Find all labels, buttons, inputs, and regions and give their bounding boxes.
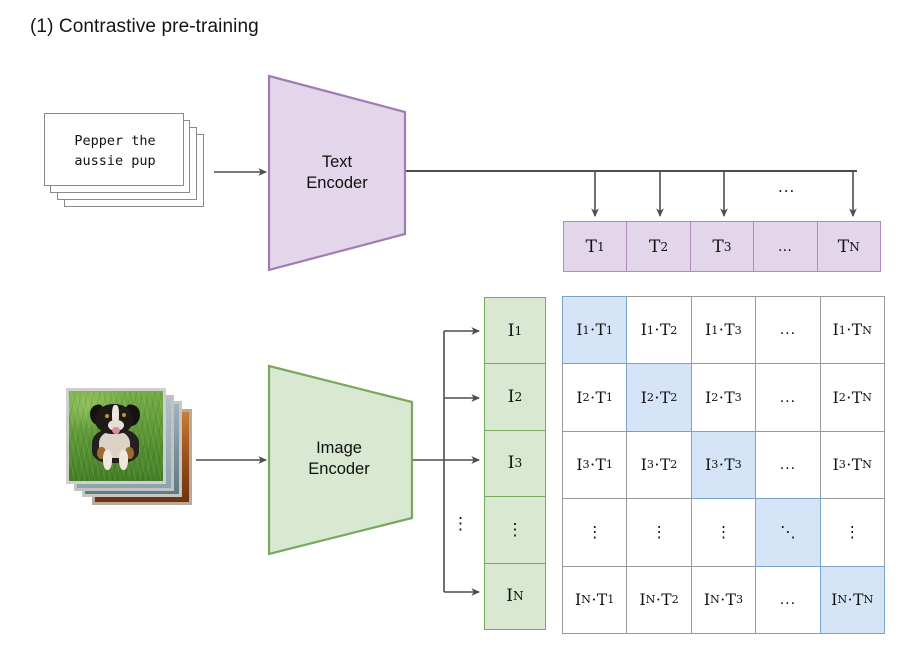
caption-line-2: aussie pup: [74, 151, 155, 171]
image-embedding-cell-3: I3: [484, 430, 546, 497]
text-caption-card-front: Pepper the aussie pup: [44, 113, 184, 186]
i-trunk-ellipsis: ⋮: [452, 516, 469, 533]
text-caption-content: Pepper the aussie pup: [45, 114, 185, 187]
photo-front-puppy: [66, 388, 166, 484]
similarity-cell-r3-c4: ...: [755, 431, 820, 499]
similarity-cell-r1-c2: I1·T2: [626, 296, 691, 364]
image-embedding-cell-1: I1: [484, 297, 546, 364]
image-embedding-cell-5: IN: [484, 563, 546, 630]
similarity-cell-r4-c2: ⋮: [626, 498, 691, 566]
similarity-cell-r1-c3: I1·T3: [691, 296, 756, 364]
similarity-cell-r4-c1: ⋮: [562, 498, 627, 566]
puppy-photo-image: [69, 391, 163, 481]
similarity-cell-r5-c2: IN·T2: [626, 566, 691, 634]
similarity-cell-r4-c3: ⋮: [691, 498, 756, 566]
similarity-cell-r2-c1: I2·T1: [562, 363, 627, 431]
similarity-cell-r3-c3: I3·T3: [691, 431, 756, 499]
similarity-cell-r3-c2: I3·T2: [626, 431, 691, 499]
text-encoder-shape: [266, 72, 408, 274]
similarity-cell-r2-c3: I2·T3: [691, 363, 756, 431]
similarity-cell-r5-c3: IN·T3: [691, 566, 756, 634]
image-encoder-shape: [266, 362, 416, 558]
image-encoder-block: Image Encoder: [266, 362, 416, 558]
similarity-cell-r5-c4: ...: [755, 566, 820, 634]
text-embedding-cell-5: TN: [817, 221, 881, 272]
caption-line-1: Pepper the: [74, 131, 155, 151]
text-embedding-cell-3: T3: [690, 221, 754, 272]
similarity-cell-r3-c5: I3·TN: [820, 431, 885, 499]
image-embedding-cell-4: ⋮: [484, 496, 546, 563]
similarity-cell-r5-c1: IN·T1: [562, 566, 627, 634]
page-title: (1) Contrastive pre-training: [30, 16, 259, 38]
image-embedding-cell-2: I2: [484, 363, 546, 430]
t-bus-ellipsis: ...: [778, 178, 795, 196]
similarity-cell-r1-c5: I1·TN: [820, 296, 885, 364]
text-encoder-block: Text Encoder: [266, 72, 408, 274]
image-embedding-column: I1I2I3⋮IN: [484, 297, 546, 630]
text-embedding-cell-2: T2: [626, 221, 690, 272]
image-photo-stack: [66, 388, 196, 506]
similarity-matrix: I1·T1I1·T2I1·T3...I1·TNI2·T1I2·T2I2·T3..…: [563, 297, 885, 634]
similarity-cell-r4-c4: ⋱: [755, 498, 820, 566]
similarity-cell-r5-c5: IN·TN: [820, 566, 885, 634]
similarity-cell-r1-c1: I1·T1: [562, 296, 627, 364]
similarity-cell-r4-c5: ⋮: [820, 498, 885, 566]
text-embedding-cell-1: T1: [563, 221, 627, 272]
text-caption-stack: Pepper the aussie pup: [44, 113, 212, 213]
text-embedding-cell-4: …: [753, 221, 817, 272]
similarity-cell-r2-c2: I2·T2: [626, 363, 691, 431]
similarity-cell-r1-c4: ...: [755, 296, 820, 364]
similarity-cell-r2-c5: I2·TN: [820, 363, 885, 431]
diagram-canvas: (1) Contrastive pre-training Pepper the …: [0, 0, 906, 654]
similarity-cell-r3-c1: I3·T1: [562, 431, 627, 499]
similarity-cell-r2-c4: ...: [755, 363, 820, 431]
text-embedding-row: T1T2T3…TN: [563, 221, 881, 272]
